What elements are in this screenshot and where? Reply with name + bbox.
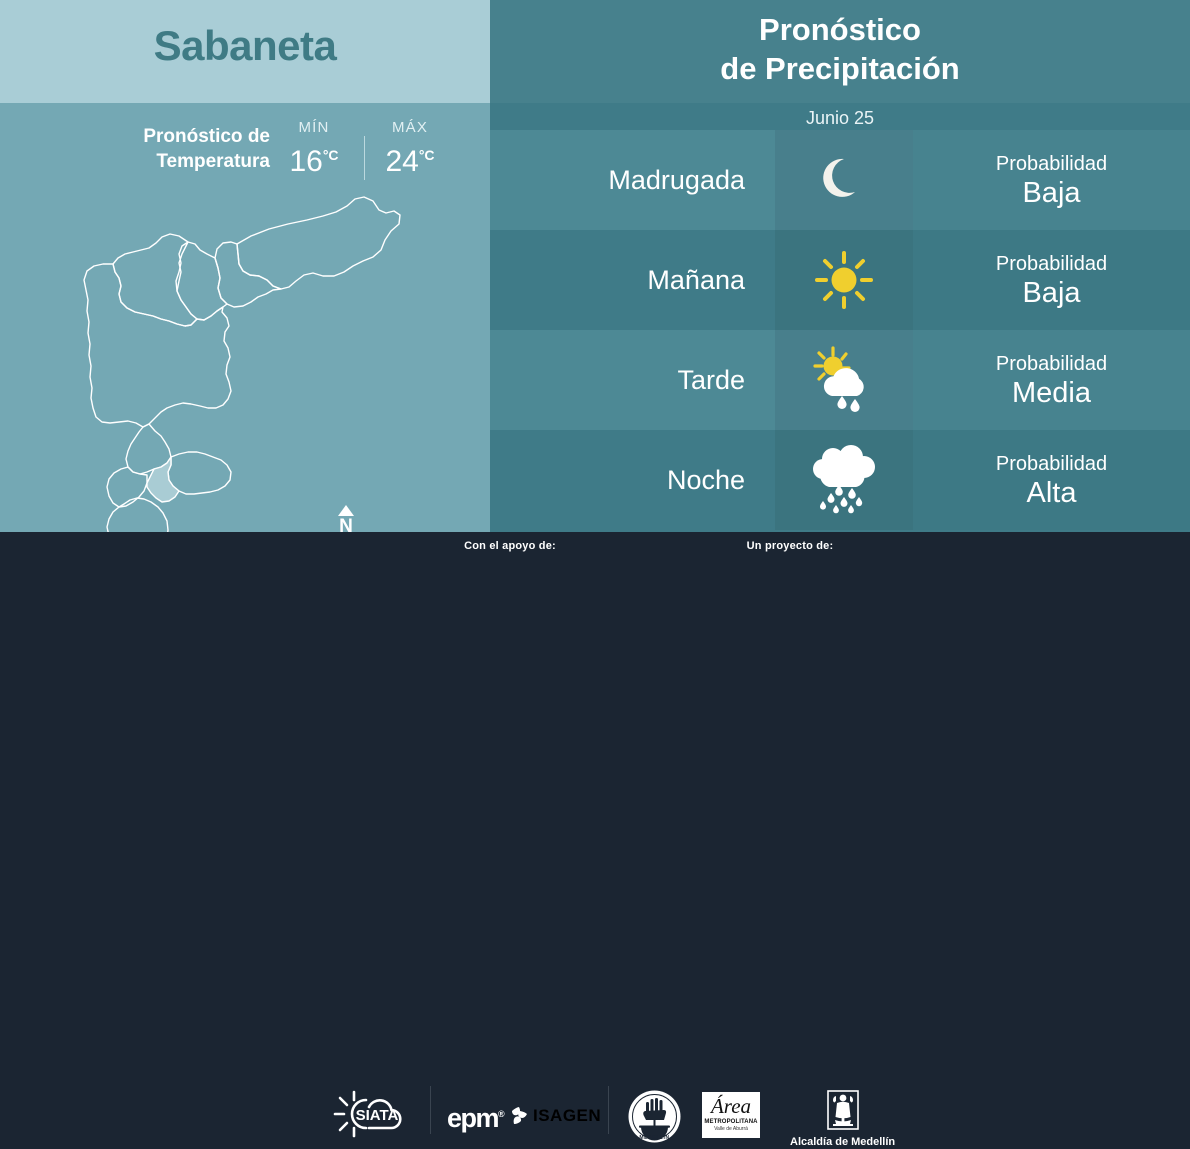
probability-caption: Probabilidad xyxy=(996,451,1107,477)
epm-logo-text: epm xyxy=(447,1103,498,1133)
area-metropolitana-logo[interactable]: Área METROPOLITANA Valle de Aburrá xyxy=(702,1092,760,1138)
probability-value: Alta xyxy=(1027,477,1077,510)
precipitation-title-line1: Pronóstico xyxy=(759,12,921,47)
moon-icon xyxy=(814,150,874,210)
temperature-max-unit: °C xyxy=(419,147,435,163)
precipitation-title: Pronóstico de Precipitación xyxy=(490,10,1190,88)
probability-caption: Probabilidad xyxy=(996,151,1107,177)
temperature-min: MÍN 16°C xyxy=(275,118,353,179)
period-cell: Madrugada xyxy=(490,130,775,230)
medellin-seal-text: MEDELLÍN xyxy=(639,1133,669,1141)
temperature-max: MÁX 24°C xyxy=(371,118,449,179)
precipitation-panel: Pronóstico de Precipitación Junio 25 Mad… xyxy=(490,0,1190,532)
alcaldia-shield-icon xyxy=(824,1090,862,1134)
project-group: Un proyecto de: xyxy=(620,532,960,620)
epm-logo[interactable]: epm® xyxy=(447,1100,505,1132)
siata-logo-icon: SIATA xyxy=(333,1090,421,1138)
weather-icon-cell xyxy=(775,330,913,430)
footer: Con el apoyo de: Un proyecto de: SIATA xyxy=(0,532,1190,620)
map-svg xyxy=(55,180,435,532)
isagen-mark-icon xyxy=(509,1106,529,1126)
probability-value: Baja xyxy=(1022,277,1080,310)
medellin-seal-logo[interactable]: MEDELLÍN xyxy=(627,1089,682,1149)
precipitation-title-line2: de Precipitación xyxy=(720,51,959,86)
footer-divider-1 xyxy=(430,1086,431,1134)
alcaldia-logo[interactable]: Alcaldía de Medellín xyxy=(790,1090,895,1148)
city-header-band: Sabaneta xyxy=(0,0,490,103)
probability-caption: Probabilidad xyxy=(996,351,1107,377)
epm-registered-mark: ® xyxy=(498,1109,505,1119)
period-label: Mañana xyxy=(647,230,745,330)
area-logo-sub2: Valle de Aburrá xyxy=(702,1126,760,1132)
isagen-logo[interactable]: ISAGEN xyxy=(509,1106,601,1126)
siata-logo[interactable]: SIATA xyxy=(333,1090,421,1143)
siata-logo-text: SIATA xyxy=(356,1107,399,1124)
temperature-values: MÍN 16°C MÁX 24°C xyxy=(275,118,455,184)
forecast-date: Junio 25 xyxy=(490,108,1190,129)
area-logo-sub1: METROPOLITANA xyxy=(702,1119,760,1126)
isagen-logo-text: ISAGEN xyxy=(533,1106,601,1126)
temperature-min-caption: MÍN xyxy=(275,118,353,138)
weather-icon-cell xyxy=(775,130,913,230)
footer-divider-2 xyxy=(608,1086,609,1134)
period-cell: Tarde xyxy=(490,330,775,430)
temperature-panel: Sabaneta Pronóstico de Temperatura MÍN 1… xyxy=(0,0,490,532)
period-cell: Mañana xyxy=(490,230,775,330)
medellin-seal-icon: MEDELLÍN xyxy=(627,1089,682,1144)
north-arrow-icon xyxy=(338,505,354,516)
temperature-divider xyxy=(364,136,365,180)
alcaldia-logo-text: Alcaldía de Medellín xyxy=(790,1136,895,1148)
temperature-max-caption: MÁX xyxy=(371,118,449,138)
period-label: Madrugada xyxy=(608,130,745,230)
probability-value: Baja xyxy=(1022,177,1080,210)
period-label: Noche xyxy=(667,430,745,530)
probability-value: Media xyxy=(1012,377,1091,410)
project-caption: Un proyecto de: xyxy=(620,540,960,552)
weather-icon-cell xyxy=(775,230,913,330)
temperature-min-value: 16°C xyxy=(275,138,353,179)
temperature-max-number: 24 xyxy=(385,145,418,178)
temperature-label: Pronóstico de Temperatura xyxy=(60,124,270,174)
probability-cell: Probabilidad Media xyxy=(913,330,1190,430)
aburra-valley-map: N xyxy=(55,180,435,532)
precipitation-header: Pronóstico de Precipitación xyxy=(490,0,1190,103)
probability-cell: Probabilidad Alta xyxy=(913,430,1190,530)
cloud-heavy-rain-icon xyxy=(807,445,881,515)
forecast-row-madrugada[interactable]: Madrugada Probabilidad Baja xyxy=(490,130,1190,230)
forecast-row-manana[interactable]: Mañana xyxy=(490,230,1190,330)
area-logo-script: Área xyxy=(702,1093,760,1119)
period-cell: Noche xyxy=(490,430,775,530)
temperature-label-line2: Temperatura xyxy=(156,151,270,172)
period-label: Tarde xyxy=(677,330,745,430)
sun-cloud-rain-icon xyxy=(808,346,880,414)
probability-cell: Probabilidad Baja xyxy=(913,230,1190,330)
forecast-rows: Madrugada Probabilidad Baja xyxy=(490,130,1190,532)
weather-icon-cell xyxy=(775,430,913,530)
temperature-label-line1: Pronóstico de xyxy=(143,126,270,147)
sun-icon xyxy=(812,248,876,312)
temperature-summary: Pronóstico de Temperatura MÍN 16°C MÁX 2… xyxy=(0,118,490,186)
probability-caption: Probabilidad xyxy=(996,251,1107,277)
probability-cell: Probabilidad Baja xyxy=(913,130,1190,230)
temperature-max-value: 24°C xyxy=(371,138,449,179)
weather-forecast-card: Sabaneta Pronóstico de Temperatura MÍN 1… xyxy=(0,0,1190,620)
forecast-row-tarde[interactable]: Tarde xyxy=(490,330,1190,430)
page-title: Sabaneta xyxy=(0,22,490,70)
temperature-min-number: 16 xyxy=(289,145,322,178)
forecast-row-noche[interactable]: Noche xyxy=(490,430,1190,530)
temperature-min-unit: °C xyxy=(323,147,339,163)
